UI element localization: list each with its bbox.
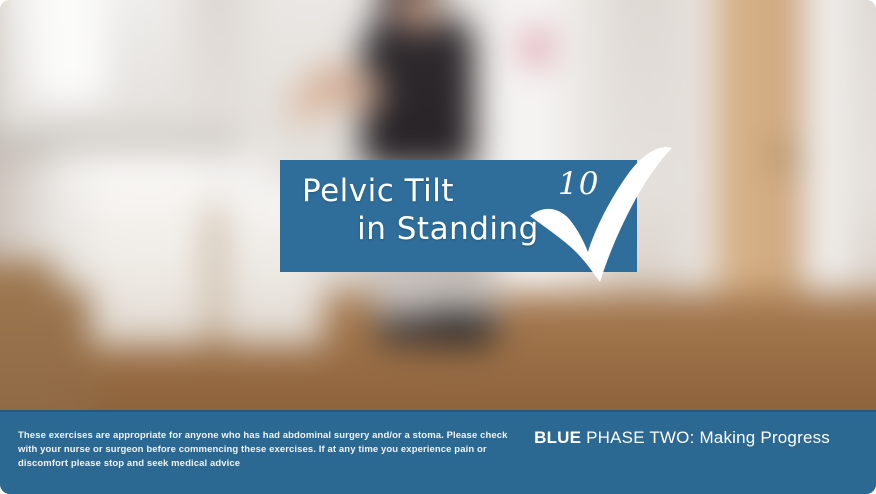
phase-label: BLUE PHASE TWO: Making Progress <box>534 428 830 448</box>
scene-person-hand <box>287 89 325 121</box>
scene-cabinet-upper <box>32 0 106 102</box>
disclaimer-text: These exercises are appropriate for anyo… <box>18 429 523 471</box>
exercise-title-line-2: in Standing <box>296 210 566 248</box>
phase-rest: PHASE TWO: Making Progress <box>581 428 830 447</box>
exercise-video-player[interactable]: Pelvic Tilt in Standing 10 These exercis… <box>0 0 876 494</box>
bottom-info-bar: These exercises are appropriate for anyo… <box>0 410 876 494</box>
exercise-title-line-1: Pelvic Tilt <box>296 172 566 210</box>
scene-person-shoe-front <box>419 312 497 346</box>
phase-highlight: BLUE <box>534 428 581 447</box>
scene-chair-left <box>90 155 207 346</box>
rep-count: 10 <box>558 166 599 202</box>
scene-fridge-magnet <box>525 30 548 66</box>
exercise-title: Pelvic Tilt in Standing <box>296 172 566 248</box>
